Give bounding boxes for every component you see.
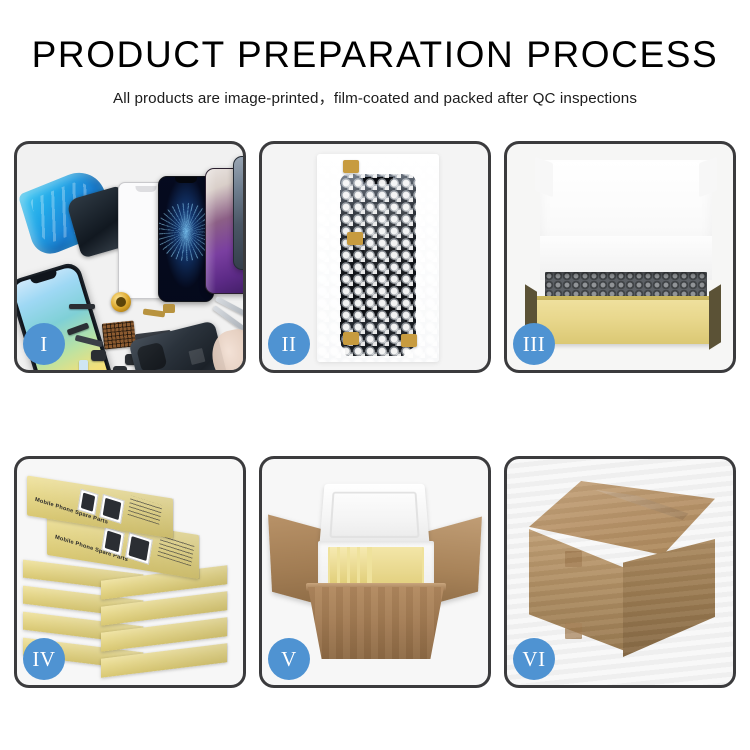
tape-graphic (347, 232, 363, 245)
step-badge-2: II (268, 323, 310, 365)
step-badge-6: VI (513, 638, 555, 680)
foam-lid-graphic (319, 484, 430, 548)
part-chip-graphic (91, 350, 106, 361)
tape-graphic (343, 332, 359, 345)
step-badge-5: V (268, 638, 310, 680)
process-step-panel-3[interactable]: III (504, 141, 736, 373)
part-chip-graphic (79, 360, 88, 370)
process-step-panel-2[interactable]: II (259, 141, 491, 373)
yellow-box-body-graphic (533, 300, 713, 344)
phone-grey-graphic (233, 156, 243, 270)
part-chip-graphic (69, 304, 95, 309)
tape-graphic (401, 334, 417, 347)
speaker-part-graphic (111, 292, 131, 312)
page-header: PRODUCT PREPARATION PROCESS All products… (0, 0, 750, 108)
phone-notch (175, 177, 197, 183)
process-step-panel-6[interactable]: VI (504, 456, 736, 688)
process-step-panel-4[interactable]: Mobile Phone Spare Parts Mobile Phone Sp… (14, 456, 246, 688)
carton-tape-tab (565, 551, 582, 567)
process-step-panel-1[interactable]: I (14, 141, 246, 373)
tape-graphic (343, 160, 359, 173)
bubble-wrapped-screen-graphic (317, 154, 439, 362)
bubble-wrap-texture (317, 154, 439, 362)
step-badge-3: III (513, 323, 555, 365)
carton-tape-tab (565, 623, 582, 639)
flex-cable-graphic (143, 308, 166, 317)
flex-cable-graphic (163, 304, 175, 313)
process-step-panel-5[interactable]: V (259, 456, 491, 688)
page-subtitle: All products are image-printed，film-coat… (0, 86, 750, 108)
step-badge-4: IV (23, 638, 65, 680)
page-title: PRODUCT PREPARATION PROCESS (0, 36, 750, 75)
process-step-grid: I II III (14, 141, 736, 688)
part-chip-graphic (113, 366, 127, 370)
carton-right-face (623, 539, 715, 657)
carton-body-graphic (308, 587, 444, 659)
step-badge-1: I (23, 323, 65, 365)
